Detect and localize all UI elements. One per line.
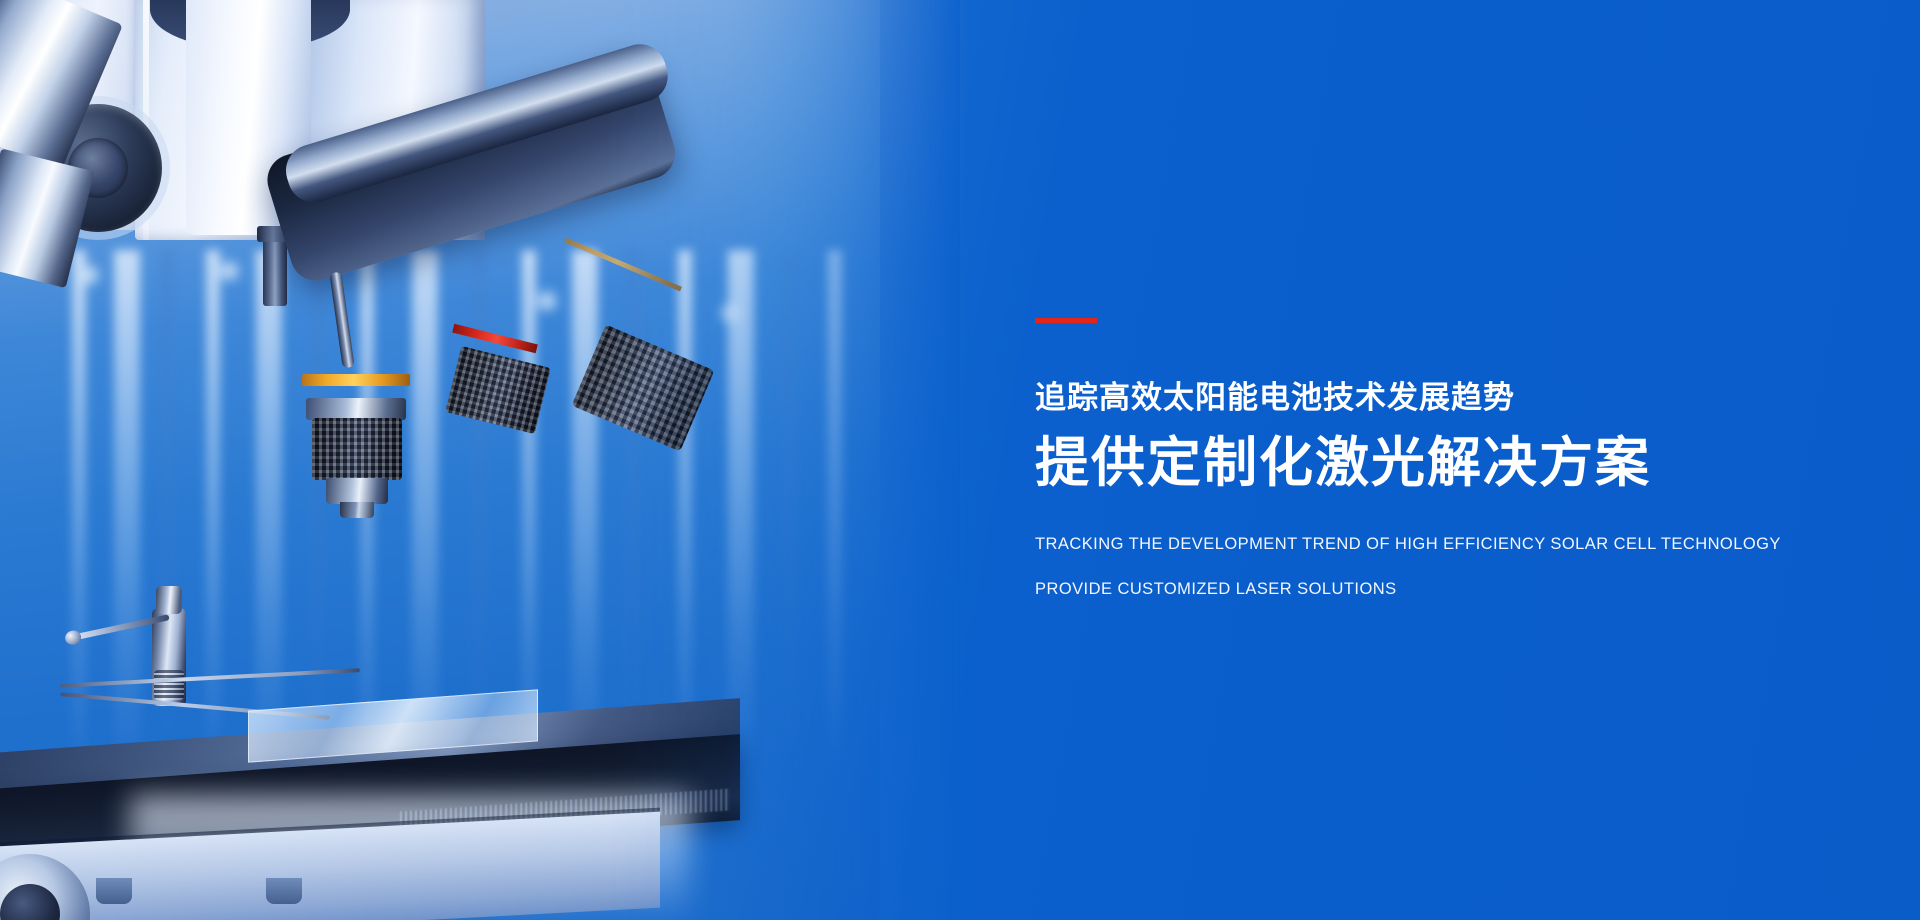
hero-english-line-1: TRACKING THE DEVELOPMENT TREND OF HIGH E…: [1035, 536, 1895, 553]
light-streak: [678, 250, 692, 770]
bokeh-dot: [78, 264, 100, 286]
light-streak: [114, 250, 140, 770]
accent-bar: [1035, 318, 1097, 323]
bokeh-dot: [536, 290, 558, 312]
objective-lens-1-skirt: [306, 398, 406, 420]
light-streak: [728, 250, 754, 770]
hero-headline-cn: 提供定制化激光解决方案: [1035, 432, 1895, 496]
light-streak: [256, 250, 282, 770]
objective-lens-1-yellow-band: [302, 374, 410, 386]
light-streak: [626, 250, 640, 770]
light-streak: [72, 250, 86, 770]
objective-lens-1-nose: [340, 502, 374, 518]
bokeh-dot: [720, 302, 742, 324]
objective-lens-1-knurling: [312, 418, 402, 480]
objective-lens-1-tip: [326, 478, 388, 504]
light-streak: [572, 250, 598, 770]
hero-banner: 追踪高效太阳能电池技术发展趋势 提供定制化激光解决方案 TRACKING THE…: [0, 0, 1920, 920]
light-streak: [782, 250, 796, 770]
light-streak: [412, 250, 438, 770]
base-foot: [96, 878, 132, 904]
light-streak: [206, 250, 220, 770]
light-streak: [310, 250, 324, 770]
hero-subtitle-cn: 追踪高效太阳能电池技术发展趋势: [1035, 381, 1895, 415]
light-streak: [828, 250, 842, 770]
bokeh-dot: [218, 260, 240, 282]
adjustment-screw: [263, 238, 287, 306]
hero-english-block: TRACKING THE DEVELOPMENT TREND OF HIGH E…: [1035, 536, 1895, 598]
hero-english-line-2: PROVIDE CUSTOMIZED LASER SOLUTIONS: [1035, 581, 1895, 598]
microscope-photo: [0, 0, 980, 920]
hero-copy: 追踪高效太阳能电池技术发展趋势 提供定制化激光解决方案 TRACKING THE…: [1035, 318, 1895, 598]
base-foot: [266, 878, 302, 904]
